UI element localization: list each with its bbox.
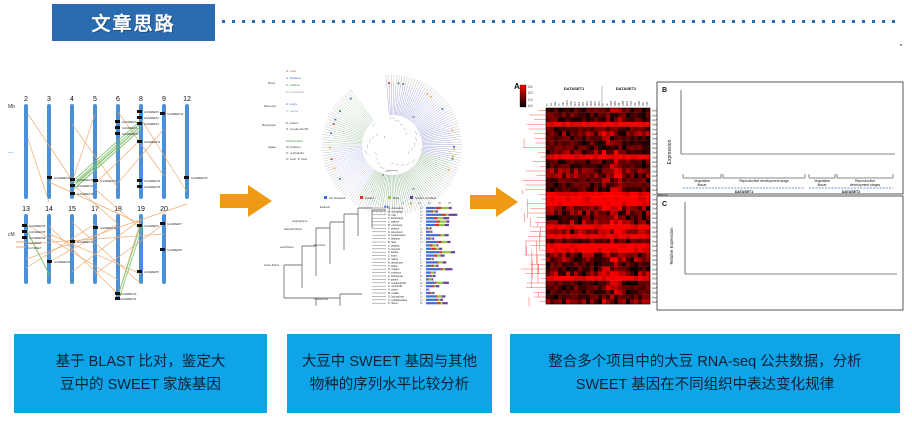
svg-text:II: II	[382, 173, 384, 177]
svg-text:6: 6	[420, 259, 422, 261]
svg-text:8: 8	[139, 96, 143, 103]
svg-text:14: 14	[420, 215, 423, 217]
svg-text:R1: R1	[550, 102, 553, 106]
svg-text:Land Plants: Land Plants	[280, 245, 294, 249]
svg-text:6: 6	[116, 96, 120, 103]
svg-text:A. thaliana: A. thaliana	[286, 76, 301, 80]
svg-text:Monocots: Monocots	[314, 243, 326, 247]
svg-text:GmSWEET41: GmSWEET41	[54, 260, 71, 264]
cladogram: Not Sustained Tandem Block Tandem and Bl…	[264, 196, 457, 306]
svg-text:5: 5	[420, 273, 422, 275]
panel-b-label: B	[662, 87, 667, 94]
svg-text:DATASET2: DATASET2	[842, 190, 860, 194]
caption-step-2-line-1: 大豆中 SWEET 基因与其他	[302, 351, 477, 373]
caption-step-2-line-2: 物种的序列水平比较分析	[302, 374, 477, 396]
svg-text:4: 4	[70, 96, 74, 103]
svg-text:K. nitens: K. nitens	[388, 302, 398, 305]
panel-c-bar-chart: C Relative Expression	[657, 196, 903, 310]
svg-text:Angiosperms: Angiosperms	[292, 219, 308, 223]
svg-text:SD4: SD4	[586, 101, 589, 106]
svg-text:25: 25	[448, 201, 451, 205]
heatmap-dataset1-label: DATASET1	[564, 86, 585, 91]
svg-text:tissue: tissue	[698, 183, 707, 187]
svg-text:Block: Block	[393, 196, 400, 200]
svg-text:10: 10	[420, 211, 423, 213]
svg-text:P. patens: P. patens	[286, 121, 299, 125]
svg-text:cM: cM	[8, 232, 15, 238]
svg-text:Nod: Nod	[554, 101, 557, 106]
svg-text:12: 12	[183, 96, 191, 103]
svg-text:GmSWEET20: GmSWEET20	[191, 176, 208, 180]
svg-text:20: 20	[438, 201, 441, 205]
svg-text:GmSWEET: GmSWEET	[28, 246, 42, 250]
svg-text:Tandem: Tandem	[365, 196, 374, 200]
svg-text:SM: SM	[642, 102, 645, 106]
svg-text:SH4: SH4	[594, 101, 597, 106]
svg-text:Vascular Plants: Vascular Plants	[284, 227, 303, 231]
svg-text:19: 19	[137, 206, 145, 213]
svg-text:Green Plants: Green Plants	[264, 263, 280, 267]
svg-text:7: 7	[420, 225, 422, 227]
svg-text:GmSWEET21: GmSWEET21	[100, 179, 117, 183]
svg-text:DATASET1: DATASET1	[735, 190, 753, 194]
svg-text:3: 3	[47, 96, 51, 103]
svg-text:25: 25	[420, 303, 423, 305]
svg-text:Bryophyte: Bryophyte	[262, 123, 276, 127]
svg-text:GmSWEET29: GmSWEET29	[54, 176, 71, 180]
svg-text:13: 13	[22, 206, 30, 213]
svg-text:22: 22	[420, 276, 423, 278]
svg-text:19: 19	[420, 283, 423, 285]
svg-text:GmSWEET: GmSWEET	[28, 241, 42, 245]
svg-text:LF: LF	[602, 103, 605, 106]
svg-text:5: 5	[93, 96, 97, 103]
svg-text:SL3: SL3	[578, 101, 581, 106]
svg-text:FB1: FB1	[562, 101, 565, 106]
figure-chromosome-synteny-map: 23 45 68 912 1314 1517	[8, 84, 208, 310]
svg-text:GmSWEET7: GmSWEET7	[167, 222, 182, 226]
svg-text:G. max: G. max	[286, 69, 296, 73]
svg-text:PB: PB	[618, 102, 621, 106]
svg-text:19: 19	[420, 249, 423, 251]
caption-step-1-line-2: 豆中的 SWEET 家族基因	[56, 374, 226, 396]
circular-phylogenetic-tree: I IV II III	[322, 75, 462, 215]
svg-text:6: 6	[420, 279, 422, 281]
svg-text:RTM: RTM	[610, 101, 613, 106]
svg-text:7: 7	[420, 245, 422, 247]
svg-text:development stages: development stages	[850, 183, 881, 187]
svg-text:2: 2	[24, 96, 28, 103]
svg-text:27: 27	[420, 222, 423, 224]
corner-dot	[900, 44, 902, 46]
svg-text:GmSWEET1: GmSWEET1	[144, 110, 159, 114]
svg-text:Eudicots: Eudicots	[320, 205, 331, 209]
svg-text:Z. mays: Z. mays	[286, 102, 297, 106]
svg-text:tissue: tissue	[818, 183, 827, 187]
svg-text:Not Sustained: Not Sustained	[329, 196, 346, 200]
caption-step-2: 大豆中 SWEET 基因与其他 物种的序列水平比较分析	[287, 334, 492, 413]
svg-text:Rt: Rt	[606, 103, 609, 106]
svg-text:9: 9	[162, 96, 166, 103]
caption-step-3: 整合多个项目中的大豆 RNA-seq 公共数据，分析 SWEET 基因在不同组织…	[510, 334, 900, 413]
svg-text:12: 12	[420, 228, 423, 230]
svg-text:14: 14	[45, 206, 53, 213]
figure-expression-analysis: A 3.02.0 1.00.0 DATASET1 DATASET2	[512, 80, 904, 312]
svg-text:29: 29	[420, 266, 423, 268]
page-title: 文章思路	[91, 9, 175, 36]
svg-text:M. truncatula: M. truncatula	[286, 90, 304, 94]
svg-text:2: 2	[420, 290, 422, 292]
figure-phylogenetic-trees: Dicot G. max A. thaliana V. vinifera M. …	[262, 50, 462, 312]
svg-text:3: 3	[420, 269, 422, 271]
svg-text:9: 9	[420, 252, 422, 254]
header-dotted-rule	[222, 20, 900, 23]
svg-text:GmSWEET9: GmSWEET9	[122, 126, 137, 130]
svg-text:GmSWEET3: GmSWEET3	[144, 224, 159, 228]
svg-text:V. vinifera: V. vinifera	[286, 83, 300, 87]
svg-text:GmSWEET24: GmSWEET24	[144, 179, 161, 183]
svg-text:GmSWEET4: GmSWEET4	[144, 122, 159, 126]
svg-text:DRS: DRS	[638, 101, 641, 106]
svg-text:SP1: SP1	[582, 101, 585, 106]
panel-c-label: C	[662, 201, 667, 208]
svg-text:MRT: MRT	[626, 100, 629, 106]
svg-text:GBB: GBB	[622, 101, 625, 106]
panel-c-ylabel: Relative Expression	[669, 227, 674, 265]
panel-b-ylabel: Expression	[667, 139, 673, 164]
svg-text:Fla: Fla	[634, 102, 637, 106]
svg-text:14: 14	[420, 300, 423, 302]
svg-text:Monocot: Monocot	[264, 104, 276, 108]
svg-text:Mb: Mb	[8, 104, 15, 110]
svg-text:SL4: SL4	[574, 101, 577, 106]
svg-text:15: 15	[68, 206, 76, 213]
svg-text:YL: YL	[546, 102, 549, 106]
svg-text:Tandem and Block: Tandem and Block	[415, 196, 437, 200]
svg-text:GmSWEET46: GmSWEET46	[100, 226, 117, 230]
svg-text:GmSWEET18: GmSWEET18	[77, 192, 94, 196]
svg-text:—: —	[8, 150, 13, 156]
svg-text:0.0: 0.0	[528, 104, 533, 108]
svg-text:GmSWEET15: GmSWEET15	[77, 178, 94, 182]
svg-text:16: 16	[420, 296, 423, 298]
circular-tree-legend: Dicot G. max A. thaliana V. vinifera M. …	[262, 69, 308, 161]
panel-a-label: A	[514, 82, 520, 91]
panel-a-heatmap: A 3.02.0 1.00.0 DATASET1 DATASET2	[514, 82, 668, 306]
svg-text:14: 14	[420, 242, 423, 244]
svg-text:FL: FL	[558, 103, 561, 106]
svg-text:15: 15	[428, 201, 431, 205]
svg-text:Chlorophyta: Chlorophyta	[314, 297, 329, 301]
svg-text:I: I	[384, 135, 385, 139]
svg-text:6: 6	[420, 256, 422, 258]
slide-canvas: 文章思路 23 45 68	[0, 0, 912, 421]
svg-text:17: 17	[420, 218, 423, 220]
svg-text:27: 27	[420, 262, 423, 264]
svg-text:2.0: 2.0	[528, 91, 533, 95]
svg-text:FPt1: FPt1	[570, 100, 573, 106]
svg-text:25: 25	[420, 293, 423, 295]
svg-text:GmSWEET17: GmSWEET17	[77, 184, 94, 188]
svg-text:GmSWEET33: GmSWEET33	[29, 224, 46, 228]
svg-text:M. balticus: M. balticus	[286, 145, 301, 149]
svg-text:GmSWEET6: GmSWEET6	[122, 120, 137, 124]
svg-text:10: 10	[420, 235, 423, 237]
panel-b-bar-chart: B Expression Vegetativetissue Reproducti…	[657, 82, 903, 194]
svg-text:GmSWEET44: GmSWEET44	[77, 240, 94, 244]
svg-text:20: 20	[420, 232, 423, 234]
svg-text:SBN: SBN	[614, 101, 617, 106]
svg-text:GmSWEET12: GmSWEET12	[167, 112, 184, 116]
svg-text:O. tauri, P. tauri: O. tauri, P. tauri	[286, 157, 308, 161]
svg-text:FB10: FB10	[566, 100, 569, 106]
svg-text:Chlorophyta: Chlorophyta	[286, 139, 303, 143]
svg-text:23: 23	[420, 239, 423, 241]
svg-text:1.0: 1.0	[528, 98, 533, 102]
svg-text:C. reinhardtii: C. reinhardtii	[286, 151, 304, 155]
svg-text:O. sativa: O. sativa	[286, 109, 298, 113]
caption-step-3-line-1: 整合多个项目中的大豆 RNA-seq 公共数据，分析	[548, 351, 861, 373]
svg-text:SD3: SD3	[590, 101, 593, 106]
heatmap-dataset2-label: DATASET2	[616, 86, 637, 91]
svg-text:GmSWEET38: GmSWEET38	[29, 236, 46, 240]
svg-text:GmSWEET35: GmSWEET35	[29, 230, 46, 234]
heatmap-colorbar	[520, 85, 526, 107]
caption-step-1: 基于 BLAST 比对，鉴定大 豆中的 SWEET 家族基因	[14, 334, 267, 413]
caption-step-3-line-2: SWEET 基因在不同组织中表达变化规律	[548, 374, 861, 396]
svg-text:Dicot: Dicot	[268, 81, 275, 85]
svg-text:24: 24	[420, 208, 423, 210]
title-banner: 文章思路	[52, 4, 215, 41]
svg-text:Reproductive development stage: Reproductive development stage	[739, 179, 789, 183]
svg-text:GmSWEET8: GmSWEET8	[167, 248, 182, 252]
caption-step-1-line-1: 基于 BLAST 比对，鉴定大	[56, 351, 226, 373]
svg-text:III: III	[412, 187, 415, 191]
svg-text:GmSWEET26: GmSWEET26	[144, 185, 161, 189]
svg-text:17: 17	[91, 206, 99, 213]
svg-text:GmSWEET5: GmSWEET5	[144, 270, 159, 274]
svg-text:GmSWEET2: GmSWEET2	[144, 116, 159, 120]
svg-text:GmSWEET13: GmSWEET13	[120, 292, 137, 296]
chromosome-map-top: 23 45 68 912 1314 1517	[8, 96, 208, 301]
svg-text:3.0: 3.0	[528, 85, 533, 89]
svg-text:NDL: NDL	[646, 101, 649, 106]
svg-text:GmSWEET14: GmSWEET14	[120, 297, 137, 301]
svg-text:GmSWEET10: GmSWEET10	[122, 132, 139, 136]
svg-text:GmSWEET11: GmSWEET11	[144, 140, 161, 144]
svg-text:S. moellendorffii: S. moellendorffii	[286, 127, 308, 131]
svg-text:Algae: Algae	[268, 145, 276, 149]
svg-text:CDT: CDT	[630, 101, 633, 106]
svg-text:SD1: SD1	[598, 101, 601, 106]
svg-text:27: 27	[420, 286, 423, 288]
